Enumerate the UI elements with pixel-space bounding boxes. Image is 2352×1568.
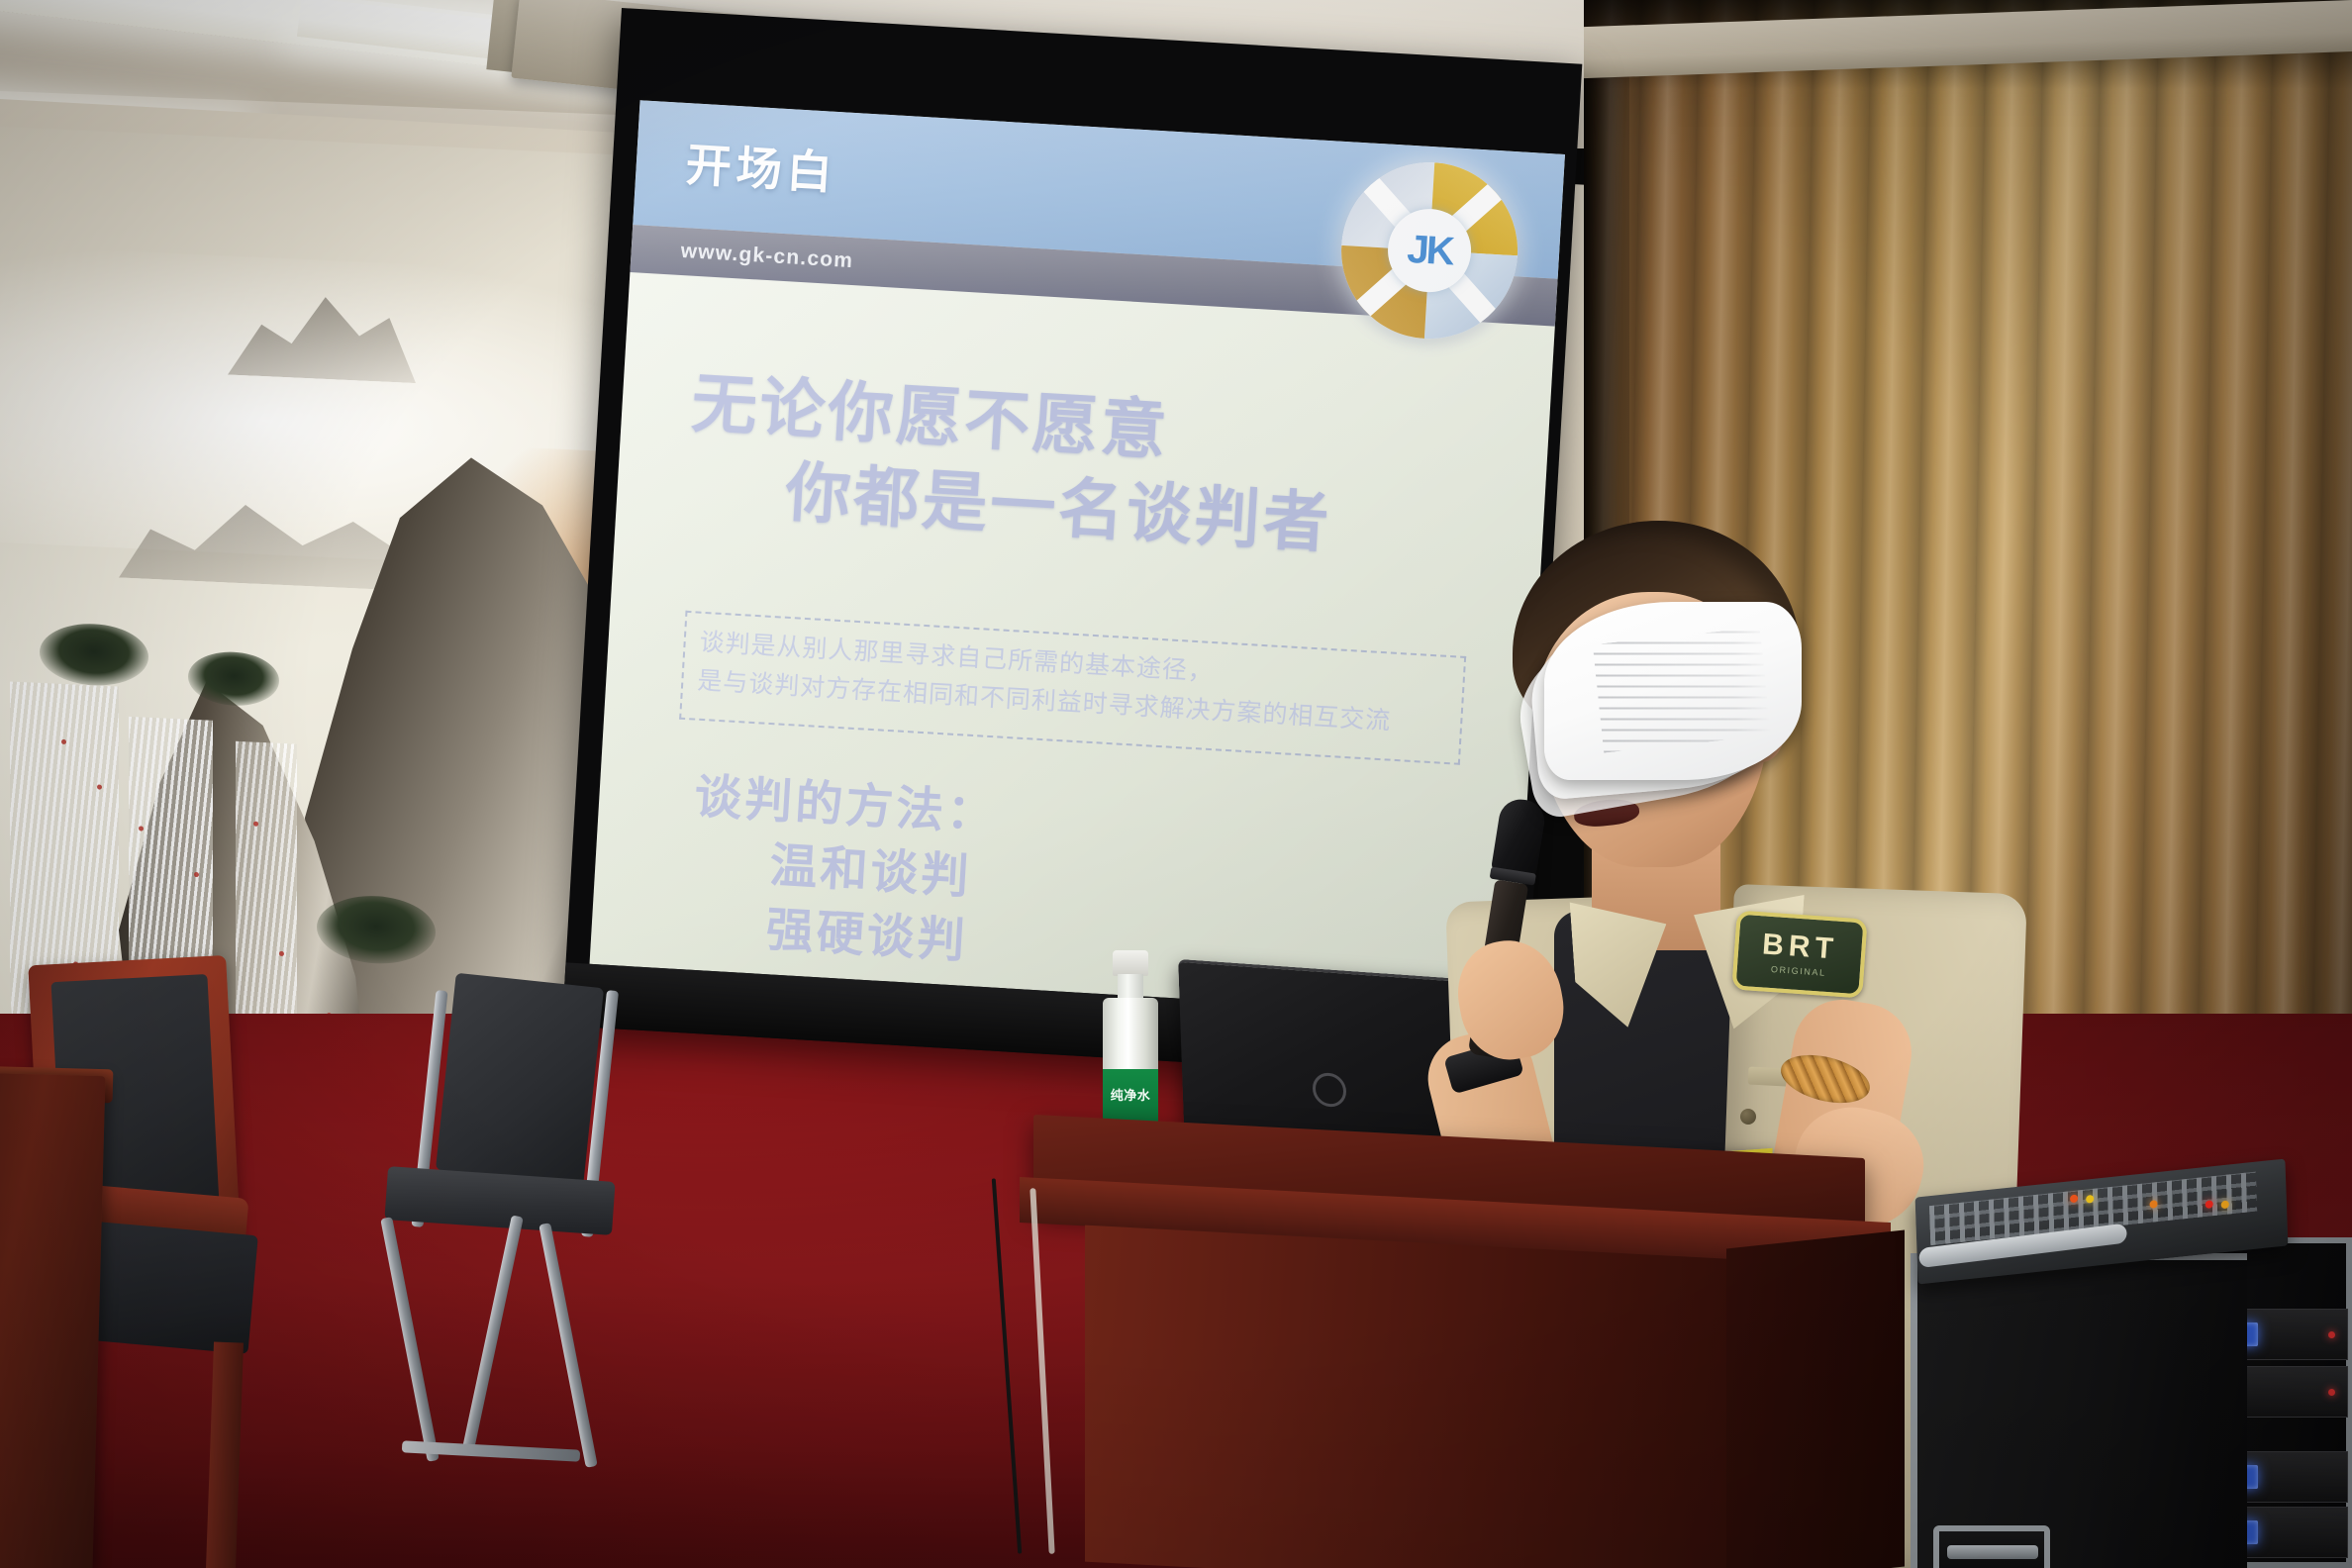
jacket-button: [1740, 1109, 1756, 1125]
presentation-notes[interactable]: [1544, 602, 1802, 780]
mural-pine-1: [40, 622, 148, 688]
folding-chair-leg: [462, 1215, 524, 1449]
slide-surface: 开场白 www.gk-cn.com JK 无论你愿不愿意 你都是一名谈判: [590, 100, 1565, 1018]
armchair-leg: [206, 1342, 244, 1568]
podium-side-panel: [1726, 1230, 1905, 1568]
mural-blossom: [253, 822, 258, 827]
rack-power-led: [2328, 1331, 2335, 1338]
slide-headline: 无论你愿不愿意 你都是一名谈判者: [684, 361, 1338, 566]
wooden-podium: [1033, 1136, 1905, 1568]
slide-body: 无论你愿不愿意 你都是一名谈判者 谈判是从别人那里寻求自己所需的基本途径， 是与…: [590, 272, 1555, 1018]
side-table: [0, 1072, 106, 1568]
audio-equipment-rack: [1911, 1178, 2352, 1568]
slide-url-text: www.gk-cn.com: [680, 240, 854, 273]
mural-blossom: [279, 951, 284, 956]
mural-blossom: [61, 739, 66, 744]
mural-blossom: [139, 826, 144, 831]
presentation-room-scene: 开场白 www.gk-cn.com JK 无论你愿不愿意 你都是一名谈判: [0, 0, 2352, 1568]
folding-chair-leg: [539, 1223, 597, 1468]
bottle-label-text: 纯净水: [1103, 1085, 1158, 1104]
brt-sleeve-patch: BRT ORIGINAL: [1731, 910, 1867, 998]
slide-method-item-1: 强硬谈判: [764, 899, 991, 976]
bottle-neck: [1118, 974, 1143, 1000]
bottle-cap: [1113, 950, 1148, 976]
flight-case-body: [1911, 1253, 2247, 1568]
brt-patch-subtext: ORIGINAL: [1771, 964, 1826, 978]
rack-power-led: [2328, 1389, 2335, 1396]
slide-headline-line-1: 无论你愿不愿意: [690, 366, 1171, 467]
folding-chair-leg: [380, 1217, 439, 1462]
logo-monogram: JK: [1406, 230, 1452, 272]
slide-title: 开场白: [684, 129, 839, 203]
podium-front-panel: [1085, 1225, 1778, 1568]
paper-printed-text: [1593, 627, 1772, 752]
brt-patch-text: BRT: [1761, 930, 1839, 964]
folding-chair-back: [436, 973, 604, 1186]
slide-definition-box: 谈判是从别人那里寻求自己所需的基本途径， 是与谈判对方存在相同和不同利益时寻求解…: [679, 611, 1466, 765]
mural-blossom: [194, 872, 199, 877]
slide-headline-line-2: 你都是一名谈判者: [783, 450, 1333, 566]
slide-method-title: 谈判的方法：: [693, 766, 999, 848]
slide-method-block: 谈判的方法： 温和谈判 强硬谈判: [685, 766, 999, 976]
mural-blossom: [97, 784, 102, 789]
flight-case-handle[interactable]: [1947, 1545, 2038, 1559]
metal-folding-chair: [368, 980, 636, 1475]
